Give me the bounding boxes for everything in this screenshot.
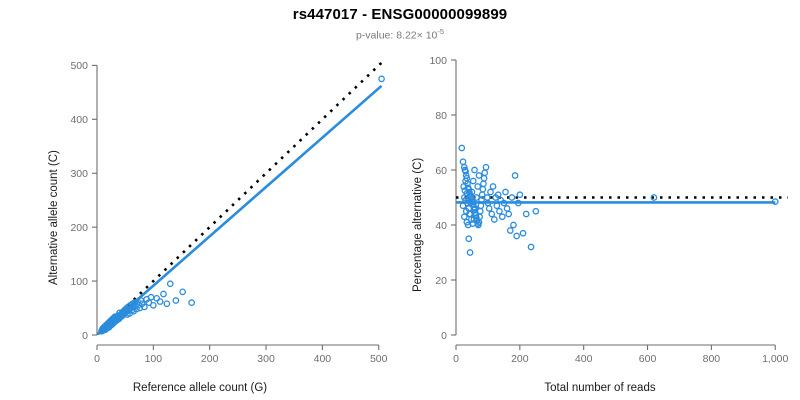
svg-right-ytick: 40 — [435, 220, 447, 232]
data-point — [497, 209, 502, 214]
data-point — [500, 214, 505, 219]
data-point — [489, 211, 494, 216]
data-point — [157, 299, 162, 304]
data-point — [481, 181, 486, 186]
svg-right-ytick: 0 — [441, 330, 447, 342]
svg-left-xtick: 200 — [201, 353, 219, 365]
svg-right-ytick: 80 — [435, 110, 447, 122]
svg-left-ytick: 100 — [70, 276, 88, 288]
reference-line — [97, 60, 384, 335]
svg-left-ytick: 400 — [70, 114, 88, 126]
data-point — [460, 159, 465, 164]
svg-right-xtick: 0 — [453, 353, 459, 365]
svg-left-xtick: 0 — [94, 353, 100, 365]
svg-left-xtick: 500 — [370, 353, 388, 365]
right-plot-svg: 02040608010002004006008001,000 — [400, 0, 800, 400]
data-point — [520, 231, 525, 236]
data-point — [524, 211, 529, 216]
data-point — [467, 250, 472, 255]
svg-right-ytick: 60 — [435, 165, 447, 177]
svg-left-ytick: 500 — [70, 60, 88, 72]
data-point — [471, 178, 476, 183]
data-point — [379, 76, 384, 81]
data-point — [161, 291, 166, 296]
svg-right-xtick: 1,000 — [762, 353, 788, 365]
data-point — [164, 301, 169, 306]
data-point — [514, 233, 519, 238]
data-point — [517, 192, 522, 197]
data-point — [512, 173, 517, 178]
scatter-panel-reads-vs-percentage: 02040608010002004006008001,000 Total num… — [400, 0, 800, 400]
data-point — [487, 206, 492, 211]
svg-left-ytick: 0 — [82, 330, 88, 342]
right-y-axis-label: Percentage alternative (C) — [412, 158, 424, 292]
data-point — [494, 203, 499, 208]
data-point — [506, 211, 511, 216]
data-point — [173, 298, 178, 303]
svg-right-xtick: 600 — [639, 353, 657, 365]
left-plot-svg: 01002003004005000100200300400500 — [0, 0, 400, 400]
data-point — [490, 184, 495, 189]
left-x-axis-label: Reference allele count (G) — [0, 382, 400, 394]
data-point — [511, 222, 516, 227]
svg-right-xtick: 200 — [511, 353, 529, 365]
data-point — [476, 173, 481, 178]
svg-left-xtick: 400 — [314, 353, 332, 365]
svg-right-xtick: 800 — [703, 353, 721, 365]
svg-left-ytick: 200 — [70, 222, 88, 234]
svg-right-ytick: 100 — [429, 55, 447, 67]
data-point — [151, 303, 156, 308]
svg-left-xtick: 300 — [257, 353, 275, 365]
data-point — [189, 300, 194, 305]
data-point — [509, 195, 514, 200]
data-point — [459, 145, 464, 150]
allelic-imbalance-figure: rs447017 - ENSG00000099899 p-value: 8.22… — [0, 0, 800, 400]
data-point — [168, 281, 173, 286]
scatter-panel-reference-vs-alternative: 01002003004005000100200300400500 Referen… — [0, 0, 400, 400]
data-point — [485, 195, 490, 200]
data-point — [492, 217, 497, 222]
data-point — [482, 170, 487, 175]
data-point — [475, 184, 480, 189]
data-point — [478, 203, 483, 208]
data-point — [533, 209, 538, 214]
data-point — [483, 165, 488, 170]
data-point — [466, 236, 471, 241]
left-y-axis-label: Alternative allele count (C) — [48, 150, 60, 285]
svg-right-ytick: 20 — [435, 275, 447, 287]
data-point — [504, 206, 509, 211]
data-point — [180, 289, 185, 294]
data-point — [528, 244, 533, 249]
data-point — [508, 228, 513, 233]
data-point — [503, 189, 508, 194]
data-point — [460, 203, 465, 208]
data-point — [154, 296, 159, 301]
data-point — [148, 295, 153, 300]
data-point — [488, 189, 493, 194]
svg-right-xtick: 400 — [575, 353, 593, 365]
svg-left-ytick: 300 — [70, 168, 88, 180]
right-x-axis-label: Total number of reads — [400, 382, 800, 394]
data-point — [472, 167, 477, 172]
svg-left-xtick: 100 — [145, 353, 163, 365]
